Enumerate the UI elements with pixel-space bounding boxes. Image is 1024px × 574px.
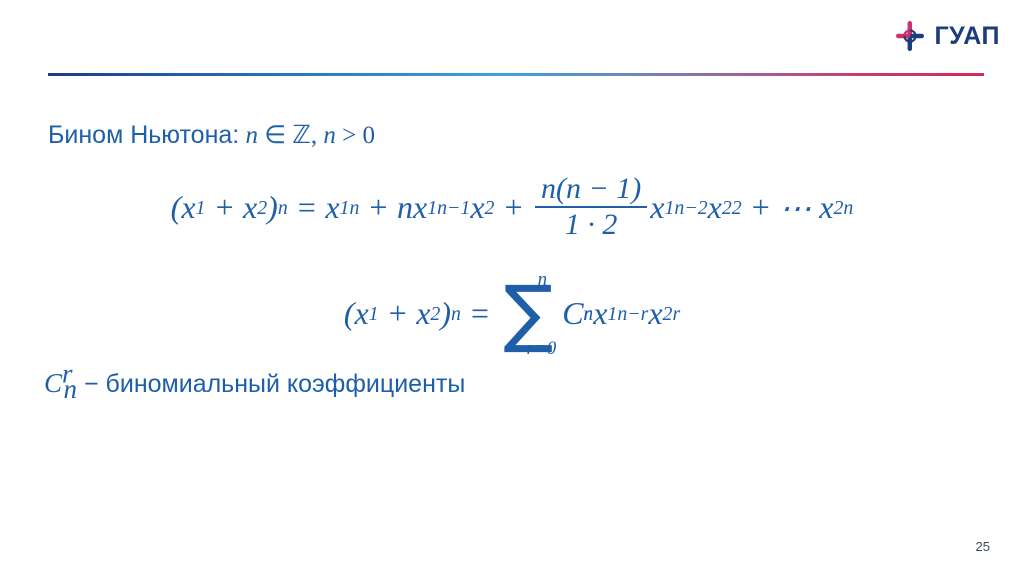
sigma-icon: ∑ xyxy=(503,285,553,343)
f1-t3-x2: x xyxy=(708,189,722,226)
f1-op3: + xyxy=(750,189,772,226)
note-text: биномиальный коэффициенты xyxy=(106,370,466,398)
title-element-of-symbol: ∈ xyxy=(264,122,286,149)
note-c-sub: n xyxy=(64,374,78,404)
f1-frac-num-rest: (n − 1) xyxy=(556,172,641,205)
f2-x2b: x xyxy=(648,295,662,332)
f2-x2: x xyxy=(416,295,430,332)
slide-content: Бином Ньютона: n ∈ ℤ, n > 0 (x1 + x2)n =… xyxy=(0,78,1024,508)
f1-equals: = xyxy=(296,189,318,226)
note-dash: − xyxy=(84,370,99,398)
f2-c-symbol: C xyxy=(562,295,583,332)
f1-op1: + xyxy=(367,189,389,226)
sum-lower-limit: r=0 xyxy=(526,339,556,358)
title-zero: 0 xyxy=(363,122,376,149)
f1-t1-x: x xyxy=(325,189,339,226)
title-label: Бином Ньютона: xyxy=(48,121,239,149)
f1-x1: x xyxy=(181,189,195,226)
page-title: Бином Ньютона: n ∈ ℤ, n > 0 xyxy=(48,120,375,150)
binomial-sum-formula: (x1 + x2)n = n ∑ r=0 Crnx1n−rx2r xyxy=(0,270,1024,358)
binomial-coefficient-note: Crn − биномиальный коэффициенты xyxy=(44,368,465,399)
title-integer-set-symbol: ℤ xyxy=(292,122,311,149)
guap-cross-logo-icon xyxy=(895,20,925,52)
f2-open-paren: ( xyxy=(344,295,355,332)
f1-op2: + xyxy=(502,189,524,226)
title-greater-than-symbol: > xyxy=(342,122,356,149)
brand-logo: ГУАП xyxy=(895,20,1000,52)
f2-plus-lhs: + xyxy=(387,295,409,332)
f1-close-paren: ) xyxy=(267,189,278,226)
slide-header: ГУАП xyxy=(0,0,1024,78)
f2-x1: x xyxy=(354,295,368,332)
f1-t3-x: x xyxy=(650,189,664,226)
header-gradient-rule xyxy=(48,73,984,76)
f1-t2-n: n xyxy=(397,189,413,226)
f1-frac-numerator: n(n − 1) xyxy=(535,173,647,206)
f2-equals: = xyxy=(469,295,491,332)
page-number: 25 xyxy=(976,539,990,554)
binomial-expansion-formula: (x1 + x2)n = x1n + nx1n−1x2 + n(n − 1) 1… xyxy=(0,174,1024,241)
f1-frac-num-n: n xyxy=(541,172,556,205)
summation-operator: n ∑ r=0 xyxy=(500,270,556,358)
brand-logo-text: ГУАП xyxy=(934,24,1000,49)
title-var-n2: n xyxy=(323,122,336,149)
title-comma: , xyxy=(311,122,317,149)
title-var-n: n xyxy=(245,122,258,149)
f2-x1b: x xyxy=(593,295,607,332)
f1-open-paren: ( xyxy=(171,189,182,226)
f1-t2-x: x xyxy=(413,189,427,226)
f1-ellipsis: ⋯ xyxy=(779,189,811,227)
note-c-symbol: C xyxy=(44,368,62,398)
f1-plus-lhs: + xyxy=(213,189,235,226)
f1-t2-x2: x xyxy=(470,189,484,226)
f2-close-paren: ) xyxy=(440,295,451,332)
f1-frac-denominator: 1 · 2 xyxy=(559,208,624,241)
f1-binomial-fraction: n(n − 1) 1 · 2 xyxy=(535,173,647,240)
f1-t4-x: x xyxy=(819,189,833,226)
f1-x2: x xyxy=(243,189,257,226)
